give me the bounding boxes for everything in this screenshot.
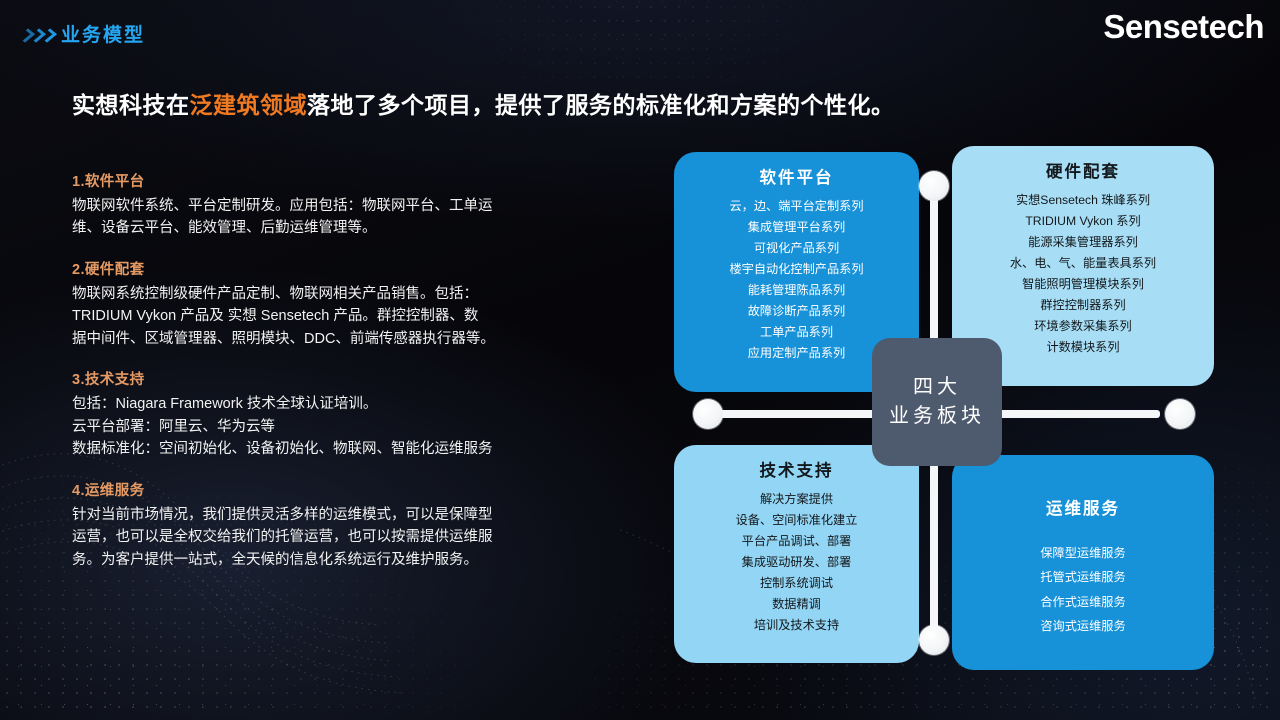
connector-node-right — [1165, 399, 1195, 429]
card-item: 工单产品系列 — [684, 322, 909, 343]
card-item: 合作式运维服务 — [962, 590, 1204, 614]
card-item: 群控控制器系列 — [962, 295, 1204, 316]
card-item: 故障诊断产品系列 — [684, 301, 909, 322]
card-item: 设备、空间标准化建立 — [684, 510, 909, 531]
slide-header: 业务模型 Sensetech — [0, 0, 1280, 66]
hub-line-1: 四大 — [913, 375, 961, 400]
card-item: 托管式运维服务 — [962, 565, 1204, 589]
card-item: 数据精调 — [684, 594, 909, 615]
headline-part-2: 落地了多个项目，提供了服务的标准化和方案的个性化。 — [307, 92, 895, 118]
block-line: 云平台部署：阿里云、华为云等 — [72, 416, 572, 438]
block-title: 2.硬件配套 — [72, 258, 572, 279]
content-block-hardware: 2.硬件配套 物联网系统控制级硬件产品定制、物联网相关产品销售。包括： TRID… — [72, 258, 572, 350]
block-title: 3.技术支持 — [72, 368, 572, 389]
left-content-column: 1.软件平台 物联网软件系统、平台定制研发。应用包括：物联网平台、工单运 维、设… — [72, 170, 572, 589]
card-item: 培训及技术支持 — [684, 615, 909, 636]
connector-node-bottom — [919, 625, 949, 655]
block-line: 物联网软件系统、平台定制研发。应用包括：物联网平台、工单运 — [72, 195, 572, 217]
card-item: TRIDIUM Vykon 系列 — [962, 211, 1204, 232]
card-item: 实想Sensetech 珠峰系列 — [962, 190, 1204, 211]
card-item: 平台产品调试、部署 — [684, 531, 909, 552]
block-line: TRIDIUM Vykon 产品及 实想 Sensetech 产品。群控控制器、… — [72, 305, 572, 327]
card-item: 可视化产品系列 — [684, 238, 909, 259]
card-item: 能源采集管理器系列 — [962, 232, 1204, 253]
card-title: 硬件配套 — [962, 158, 1204, 182]
connector-node-top — [919, 171, 949, 201]
diagram-card-technical-support[interactable]: 技术支持 解决方案提供 设备、空间标准化建立 平台产品调试、部署 集成驱动研发、… — [674, 445, 919, 663]
brand-logo: Sensetech — [1103, 8, 1264, 46]
four-business-segments-diagram: 软件平台 云，边、端平台定制系列 集成管理平台系列 可视化产品系列 楼宇自动化控… — [660, 140, 1240, 690]
section-title: 业务模型 — [61, 26, 145, 45]
block-body: 包括：Niagara Framework 技术全球认证培训。 云平台部署：阿里云… — [72, 393, 572, 460]
diagram-card-om-service[interactable]: 运维服务 保障型运维服务 托管式运维服务 合作式运维服务 咨询式运维服务 — [952, 455, 1214, 670]
block-line: 维、设备云平台、能效管理、后勤运维管理等。 — [72, 217, 572, 239]
page-headline: 实想科技在泛建筑领域落地了多个项目，提供了服务的标准化和方案的个性化。 — [72, 86, 895, 120]
card-item: 水、电、气、能量表具系列 — [962, 253, 1204, 274]
card-item: 集成驱动研发、部署 — [684, 552, 909, 573]
card-item: 智能照明管理模块系列 — [962, 274, 1204, 295]
block-line: 物联网系统控制级硬件产品定制、物联网相关产品销售。包括： — [72, 283, 572, 305]
block-line: 据中间件、区域管理器、照明模块、DDC、前端传感器执行器等。 — [72, 328, 572, 350]
card-item: 控制系统调试 — [684, 573, 909, 594]
block-body: 物联网系统控制级硬件产品定制、物联网相关产品销售。包括： TRIDIUM Vyk… — [72, 283, 572, 350]
block-line: 包括：Niagara Framework 技术全球认证培训。 — [72, 393, 572, 415]
card-item: 楼宇自动化控制产品系列 — [684, 259, 909, 280]
card-item: 解决方案提供 — [684, 489, 909, 510]
block-body: 针对当前市场情况，我们提供灵活多样的运维模式，可以是保障型 运营，也可以是全权交… — [72, 504, 572, 571]
content-block-software: 1.软件平台 物联网软件系统、平台定制研发。应用包括：物联网平台、工单运 维、设… — [72, 170, 572, 240]
card-title: 软件平台 — [684, 164, 909, 188]
card-item: 集成管理平台系列 — [684, 217, 909, 238]
card-item: 云，边、端平台定制系列 — [684, 196, 909, 217]
headline-highlight: 泛建筑领域 — [190, 92, 308, 118]
card-title: 运维服务 — [962, 495, 1204, 519]
block-line: 运营，也可以是全权交给我们的托管运营，也可以按需提供运维服 — [72, 526, 572, 548]
card-title: 技术支持 — [684, 457, 909, 481]
hub-line-2: 业务板块 — [889, 404, 985, 429]
card-item: 环境参数采集系列 — [962, 316, 1204, 337]
block-body: 物联网软件系统、平台定制研发。应用包括：物联网平台、工单运 维、设备云平台、能效… — [72, 195, 572, 240]
card-item: 能耗管理陈品系列 — [684, 280, 909, 301]
headline-part-1: 实想科技在 — [72, 92, 190, 118]
section-tag: 业务模型 — [22, 26, 145, 45]
chevrons-right-icon — [22, 29, 53, 42]
block-line: 数据标准化：空间初始化、设备初始化、物联网、智能化运维服务 — [72, 438, 572, 460]
block-line: 针对当前市场情况，我们提供灵活多样的运维模式，可以是保障型 — [72, 504, 572, 526]
content-block-om-service: 4.运维服务 针对当前市场情况，我们提供灵活多样的运维模式，可以是保障型 运营，… — [72, 479, 572, 571]
block-line: 务。为客户提供一站式，全天候的信息化系统运行及维护服务。 — [72, 549, 572, 571]
block-title: 1.软件平台 — [72, 170, 572, 191]
block-title: 4.运维服务 — [72, 479, 572, 500]
connector-node-left — [693, 399, 723, 429]
card-item: 保障型运维服务 — [962, 541, 1204, 565]
content-block-tech-support: 3.技术支持 包括：Niagara Framework 技术全球认证培训。 云平… — [72, 368, 572, 460]
diagram-center-hub: 四大 业务板块 — [872, 338, 1002, 466]
card-item: 咨询式运维服务 — [962, 614, 1204, 638]
